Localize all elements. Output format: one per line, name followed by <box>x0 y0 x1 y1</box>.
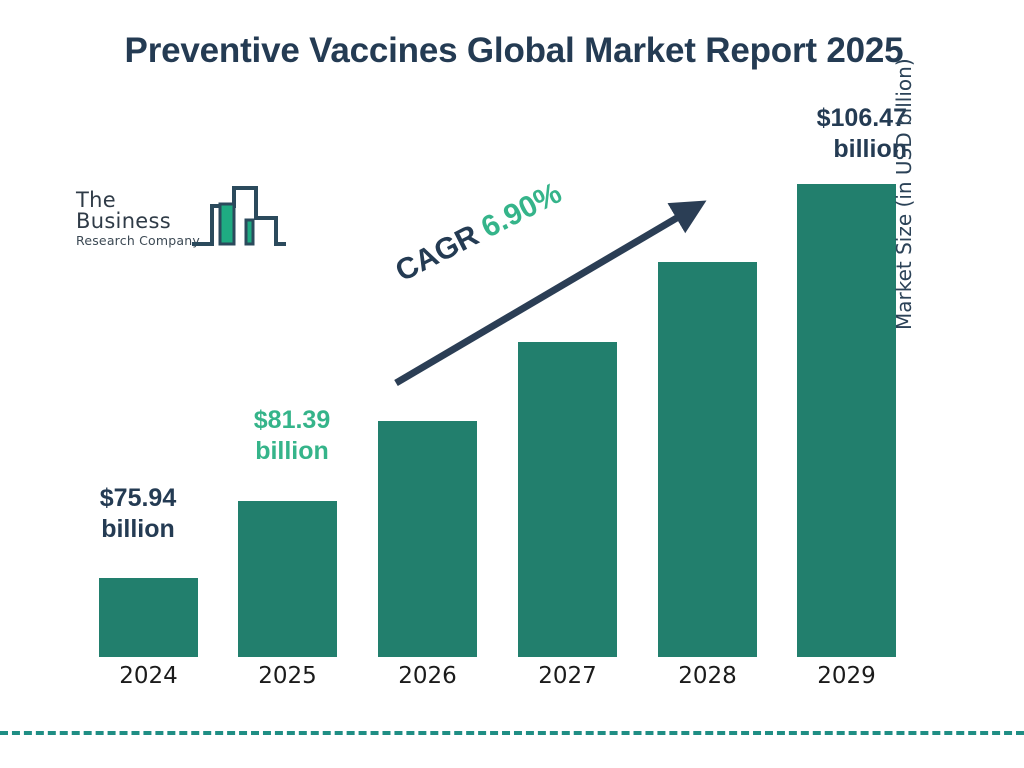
chart-canvas: Preventive Vaccines Global Market Report… <box>0 0 1024 768</box>
bar-2027 <box>518 342 617 657</box>
footer-divider <box>0 731 1024 735</box>
bar-2028 <box>658 262 757 657</box>
y-axis-title: Market Size (in USD billion) <box>892 10 916 330</box>
bar-2025 <box>238 501 337 657</box>
value-label-2029: $106.47 billion <box>762 103 907 166</box>
value-label-2025-unit: billion <box>232 436 352 467</box>
x-tick-2029: 2029 <box>797 663 896 689</box>
x-tick-2026: 2026 <box>378 663 477 689</box>
value-label-2024: $75.94 billion <box>78 483 198 546</box>
value-label-2025: $81.39 billion <box>232 405 352 468</box>
bar-2029 <box>797 184 896 657</box>
bar-2026 <box>378 421 477 657</box>
value-label-2024-unit: billion <box>78 514 198 545</box>
x-tick-2027: 2027 <box>518 663 617 689</box>
value-label-2029-unit: billion <box>762 134 907 165</box>
x-tick-2024: 2024 <box>99 663 198 689</box>
x-tick-2025: 2025 <box>238 663 337 689</box>
value-label-2025-amount: $81.39 <box>254 406 330 434</box>
value-label-2024-amount: $75.94 <box>100 484 176 512</box>
x-tick-2028: 2028 <box>658 663 757 689</box>
bar-2024 <box>99 578 198 657</box>
